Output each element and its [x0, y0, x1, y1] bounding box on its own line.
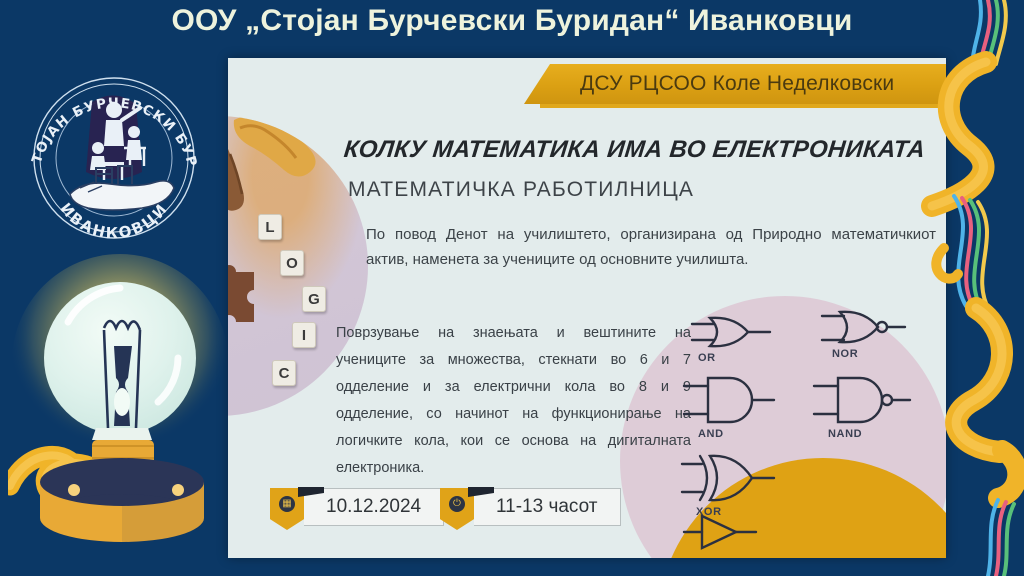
gate-label-xor: XOR [696, 506, 722, 518]
gate-label-or: OR [698, 352, 716, 364]
time-value: 11-13 часот [474, 488, 621, 526]
poster-subheading: МАТЕМАТИЧКА РАБОТИЛНИЦА [348, 178, 694, 202]
date-value: 10.12.2024 [304, 488, 444, 526]
event-poster: L O G I C ДСУ РЦСОО Коле Неделковски КОЛ… [228, 58, 946, 558]
gate-label-and: AND [698, 428, 724, 440]
letter-tile: G [302, 286, 326, 312]
puzzle-piece [228, 262, 268, 332]
gate-label-nand: NAND [828, 428, 862, 440]
letter-tile: L [258, 214, 282, 240]
clock-icon: ⏻ [449, 496, 465, 512]
letter-tile: I [292, 322, 316, 348]
lightbulb-illustration [8, 250, 248, 550]
logic-gates-diagram: OR NOR AND NAND XOR [680, 306, 930, 556]
partner-banner: ДСУ РЦСОО Коле Неделковски [524, 64, 946, 104]
letter-tile: O [280, 250, 304, 276]
letter-tile: C [272, 360, 296, 386]
time-badge: ⏻ 11-13 часот [440, 488, 621, 530]
gate-label-nor: NOR [832, 348, 858, 360]
poster-heading: КОЛКУ МАТЕМАТИКА ИМА ВО ЕЛЕКТРОНИКАТА [343, 136, 946, 164]
date-badge: ▦ 10.12.2024 [270, 488, 444, 530]
page-title: ООУ „Стојан Бурчевски Буридан“ Иванковци [0, 4, 1024, 38]
calendar-icon: ▦ [279, 496, 295, 512]
hand-illustration [228, 116, 336, 230]
banner-rule [540, 104, 946, 108]
partner-banner-label: ДСУ РЦСОО Коле Неделковски [580, 72, 894, 96]
poster-paragraph-2: Поврзување на знаењата и вештините на уч… [336, 320, 691, 482]
poster-paragraph-1: По повод Денот на училиштето, организира… [366, 222, 936, 272]
cable-decoration [914, 0, 1024, 576]
slide-canvas: ООУ „Стојан Бурчевски Буридан“ Иванковци [0, 0, 1024, 576]
school-logo: ООУ “СТОЈАН БУРЧЕВСКИ БУРИДАН” ИВАНКОВЦИ [18, 62, 210, 254]
